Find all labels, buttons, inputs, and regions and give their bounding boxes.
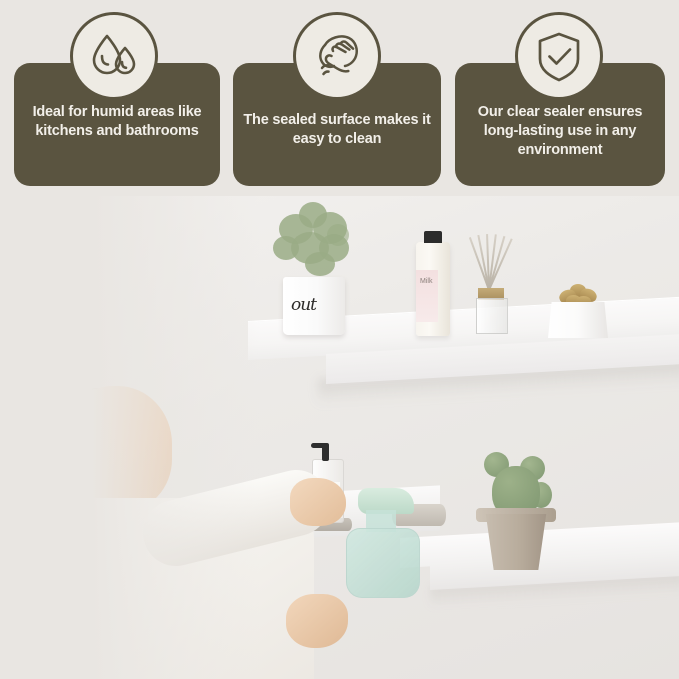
bottle-label: Milk (416, 270, 438, 322)
cactus-in-terracotta-pot (466, 448, 562, 568)
potted-greenery-foliage (265, 202, 365, 282)
feature-cards-row: Ideal for humid areas like kitchens and … (0, 0, 679, 196)
shield-check-icon (515, 12, 603, 100)
white-geometric-pot (548, 302, 608, 338)
reed-diffuser (462, 236, 518, 336)
water-droplets-icon (70, 12, 158, 100)
feature-card-text: Our clear sealer ensures long-lasting us… (463, 103, 657, 160)
product-photo-scene: out Milk (0, 196, 679, 679)
bottle-cap (424, 231, 442, 243)
terracotta-pot (480, 514, 552, 570)
spray-body (346, 528, 420, 598)
girl-lower-hand (286, 594, 348, 648)
girl-upper-hand (290, 478, 346, 526)
product-infographic: Ideal for humid areas like kitchens and … (0, 0, 679, 679)
gold-succulent (548, 282, 608, 338)
bottle-label-text: Milk (420, 278, 432, 285)
feature-card-text: The sealed surface makes it easy to clea… (241, 111, 433, 149)
feature-card-text: Ideal for humid areas like kitchens and … (22, 103, 212, 141)
plant-pot-script-text: out (291, 295, 316, 315)
mint-spray-bottle (342, 486, 422, 596)
hand-wiping-cloth-icon (293, 12, 381, 100)
white-plant-pot: out (283, 277, 345, 335)
glass-bottle: Milk (416, 242, 450, 336)
diffuser-jar (476, 298, 508, 334)
photo-left-fade (0, 196, 260, 679)
